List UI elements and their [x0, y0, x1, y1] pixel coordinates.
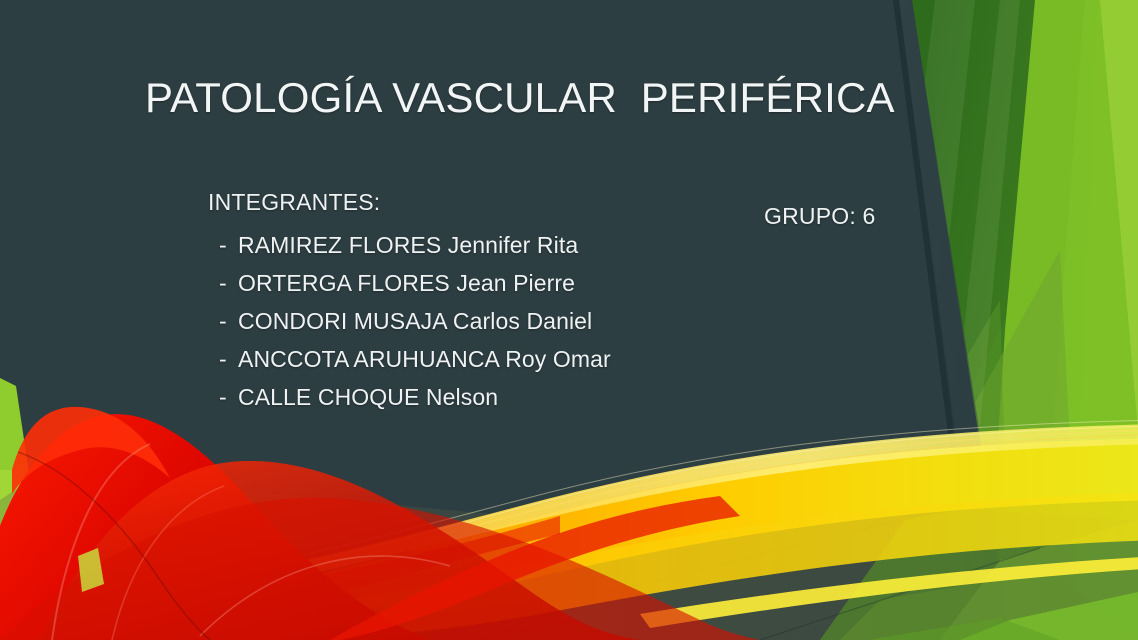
- bullet-dash-icon: -: [208, 226, 238, 264]
- bullet-dash-icon: -: [208, 378, 238, 416]
- member-name: ORTERGA FLORES Jean Pierre: [238, 264, 575, 302]
- list-item: - RAMIREZ FLORES Jennifer Rita: [208, 226, 611, 264]
- bullet-dash-icon: -: [208, 340, 238, 378]
- members-heading: INTEGRANTES:: [208, 188, 611, 216]
- slide-text-layer: PATOLOGÍA VASCULAR PERIFÉRICA INTEGRANTE…: [0, 0, 1138, 640]
- member-name: CONDORI MUSAJA Carlos Daniel: [238, 302, 592, 340]
- member-name: CALLE CHOQUE Nelson: [238, 378, 498, 416]
- list-item: - CALLE CHOQUE Nelson: [208, 378, 611, 416]
- list-item: - ORTERGA FLORES Jean Pierre: [208, 264, 611, 302]
- presentation-slide: PATOLOGÍA VASCULAR PERIFÉRICA INTEGRANTE…: [0, 0, 1138, 640]
- bullet-dash-icon: -: [208, 302, 238, 340]
- bullet-dash-icon: -: [208, 264, 238, 302]
- member-name: RAMIREZ FLORES Jennifer Rita: [238, 226, 578, 264]
- group-label: GRUPO: 6: [764, 202, 876, 230]
- members-block: INTEGRANTES: - RAMIREZ FLORES Jennifer R…: [208, 188, 611, 416]
- member-name: ANCCOTA ARUHUANCA Roy Omar: [238, 340, 611, 378]
- list-item: - CONDORI MUSAJA Carlos Daniel: [208, 302, 611, 340]
- list-item: - ANCCOTA ARUHUANCA Roy Omar: [208, 340, 611, 378]
- page-title: PATOLOGÍA VASCULAR PERIFÉRICA: [145, 74, 895, 122]
